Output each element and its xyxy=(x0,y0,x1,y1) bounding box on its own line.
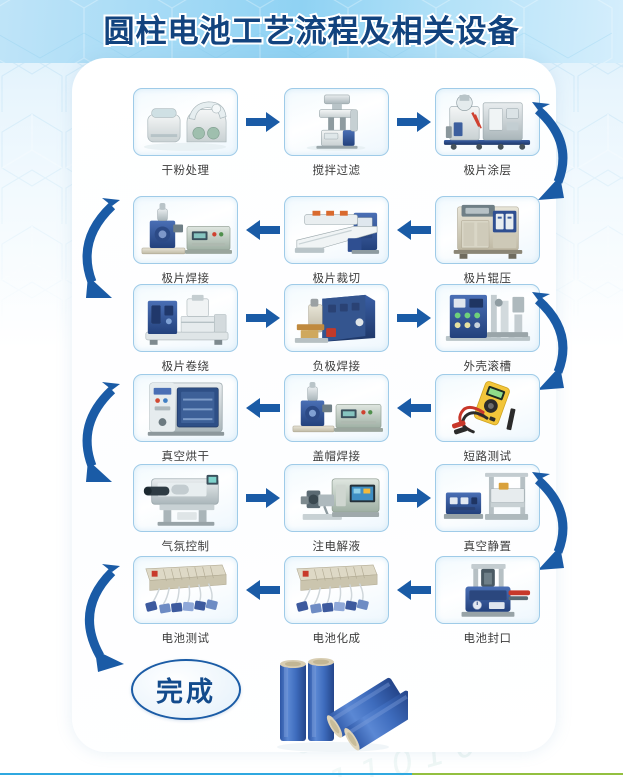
step-label: 电池测试 xyxy=(133,630,238,646)
step-node: 气氛控制 xyxy=(133,464,238,554)
step-node: 负极焊接 xyxy=(284,284,389,374)
curved-down-right-arrow-icon xyxy=(66,564,148,680)
footer-rule-green xyxy=(412,773,623,775)
left-arrow-icon xyxy=(397,398,431,418)
right-arrow-icon xyxy=(246,308,280,328)
step-label: 电池化成 xyxy=(284,630,389,646)
electrode-welding-machine-icon xyxy=(138,201,233,260)
step-card[interactable] xyxy=(133,88,238,156)
step-node: 电池测试 xyxy=(133,556,238,646)
poster-root: 0 1 0 1 1 0 1 0 0 1 0 1 0 1 1 0 1 0 1 1 … xyxy=(0,0,623,777)
step-label: 气氛控制 xyxy=(133,538,238,554)
electrode-rolling-press-icon xyxy=(440,201,535,260)
step-card[interactable] xyxy=(133,464,238,532)
step-card[interactable] xyxy=(435,374,540,442)
electrode-cutting-machine-icon xyxy=(289,201,384,260)
step-node: 极片焊接 xyxy=(133,196,238,286)
step-card[interactable] xyxy=(284,284,389,352)
step-node: 真空烘干 xyxy=(133,374,238,464)
glove-box-atmosphere-control-icon xyxy=(138,469,233,528)
electrode-winding-machine-icon xyxy=(138,289,233,348)
battery-formation-system-icon xyxy=(289,561,384,620)
right-arrow-icon xyxy=(246,112,280,132)
step-node: 搅拌过滤 xyxy=(284,88,389,178)
step-card[interactable] xyxy=(435,196,540,264)
step-card[interactable] xyxy=(284,556,389,624)
electrolyte-filling-machine-icon xyxy=(289,469,384,528)
step-card[interactable] xyxy=(284,196,389,264)
step-node: 极片裁切 xyxy=(284,196,389,286)
stirring-filter-machine-icon xyxy=(289,93,384,152)
finish-badge[interactable]: 完成 xyxy=(131,659,241,720)
step-card[interactable] xyxy=(284,88,389,156)
finish-label: 完成 xyxy=(156,670,216,709)
step-label: 盖帽焊接 xyxy=(284,448,389,464)
right-arrow-icon xyxy=(397,308,431,328)
step-node: 电池封口 xyxy=(435,556,540,646)
step-label: 极片卷绕 xyxy=(133,358,238,374)
step-node: 极片卷绕 xyxy=(133,284,238,374)
footer-rule-blue xyxy=(0,773,412,775)
step-label: 电池封口 xyxy=(435,630,540,646)
process-flow: 干粉处理 搅拌过滤 xyxy=(0,0,623,777)
right-arrow-icon xyxy=(246,488,280,508)
vacuum-drying-oven-icon xyxy=(138,379,233,438)
step-card[interactable] xyxy=(435,556,540,624)
step-node: 盖帽焊接 xyxy=(284,374,389,464)
step-card[interactable] xyxy=(284,464,389,532)
left-arrow-icon xyxy=(246,398,280,418)
anode-welding-machine-icon xyxy=(289,289,384,348)
step-node: 极片辊压 xyxy=(435,196,540,286)
step-card[interactable] xyxy=(133,556,238,624)
left-arrow-icon xyxy=(246,220,280,240)
step-card[interactable] xyxy=(133,374,238,442)
step-node: 短路测试 xyxy=(435,374,540,464)
step-label: 干粉处理 xyxy=(133,162,238,178)
step-label: 负极焊接 xyxy=(284,358,389,374)
battery-sealing-machine-icon xyxy=(440,561,535,620)
step-label: 搅拌过滤 xyxy=(284,162,389,178)
left-arrow-icon xyxy=(246,580,280,600)
dry-powder-mixer-icon xyxy=(138,93,233,152)
battery-testing-system-icon xyxy=(138,561,233,620)
right-arrow-icon xyxy=(397,488,431,508)
cylindrical-battery-cells-icon xyxy=(258,655,408,753)
step-node: 注电解液 xyxy=(284,464,389,554)
step-label: 注电解液 xyxy=(284,538,389,554)
step-card[interactable] xyxy=(133,284,238,352)
right-arrow-icon xyxy=(397,112,431,132)
cap-welding-machine-icon xyxy=(289,379,384,438)
step-card[interactable] xyxy=(284,374,389,442)
step-node: 干粉处理 xyxy=(133,88,238,178)
left-arrow-icon xyxy=(397,220,431,240)
left-arrow-icon xyxy=(397,580,431,600)
short-circuit-tester-icon xyxy=(440,379,535,438)
step-node: 电池化成 xyxy=(284,556,389,646)
step-card[interactable] xyxy=(133,196,238,264)
step-label: 真空烘干 xyxy=(133,448,238,464)
step-label: 短路测试 xyxy=(435,448,540,464)
